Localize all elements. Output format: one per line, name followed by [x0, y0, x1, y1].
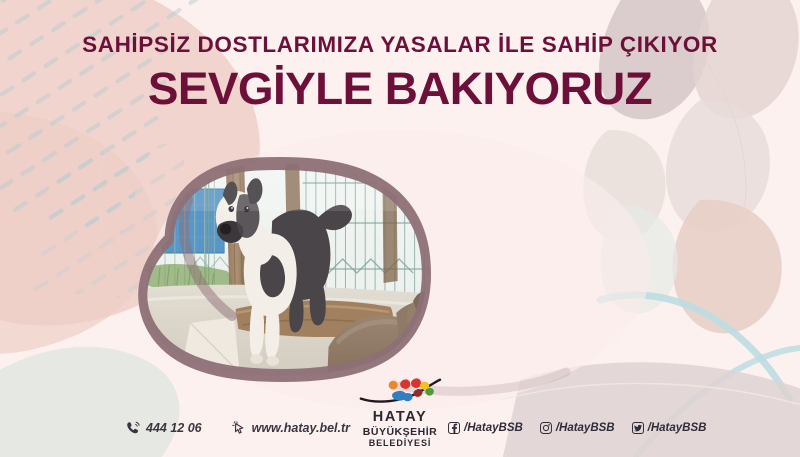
contact-phone-label: 444 12 06 [146, 421, 202, 435]
social-facebook-handle: /HatayBSB [464, 422, 523, 434]
hatay-branch-emblem [350, 377, 451, 404]
social-twitter[interactable]: /HatayBSB [632, 422, 707, 434]
social-twitter-handle: /HatayBSB [648, 422, 707, 434]
headline-line-1: SAHİPSİZ DOSTLARIMIZA YASALAR İLE SAHİP … [0, 34, 800, 57]
social-instagram[interactable]: /HatayBSB [540, 422, 615, 434]
contact-website-label: www.hatay.bel.tr [252, 421, 350, 435]
poster-canvas: SAHİPSİZ DOSTLARIMIZA YASALAR İLE SAHİP … [0, 0, 800, 457]
social-facebook[interactable]: /HatayBSB [448, 422, 523, 434]
headline-block: SAHİPSİZ DOSTLARIMIZA YASALAR İLE SAHİP … [0, 34, 800, 111]
contact-phone[interactable]: 444 12 06 [126, 421, 202, 435]
facebook-icon [448, 422, 460, 434]
headline-line-2: SEVGİYLE BAKIYORUZ [0, 66, 800, 111]
twitter-icon [632, 422, 644, 434]
social-instagram-handle: /HatayBSB [556, 422, 615, 434]
social-group: /HatayBSB /HatayBSB /HatayBSB [448, 422, 706, 434]
footer-bar: 444 12 06 www.hatay.bel.tr /HatayBSB [0, 411, 800, 457]
cursor-icon [232, 421, 246, 435]
contact-website[interactable]: www.hatay.bel.tr [232, 421, 350, 435]
contact-group: 444 12 06 www.hatay.bel.tr [126, 421, 350, 435]
phone-icon [126, 421, 140, 435]
instagram-icon [540, 422, 552, 434]
